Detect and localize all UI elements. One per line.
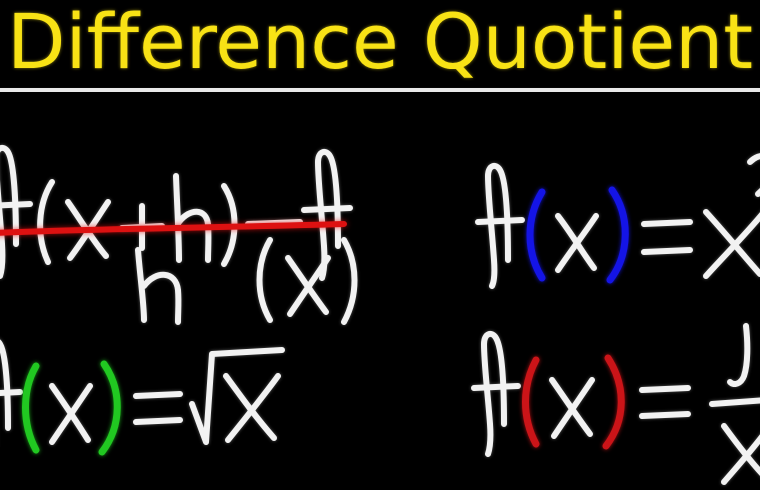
expression-f-x-reciprocal	[456, 308, 760, 478]
title-band: Difference Quotient	[0, 0, 760, 88]
screenshot-root: Difference Quotient	[0, 0, 760, 490]
page-title: Difference Quotient	[0, 0, 760, 86]
expression-f-x-sqrt	[0, 310, 326, 470]
handwriting-board	[0, 92, 760, 490]
expression-f-x-squared	[478, 128, 760, 298]
fraction-bar-red	[0, 220, 354, 240]
